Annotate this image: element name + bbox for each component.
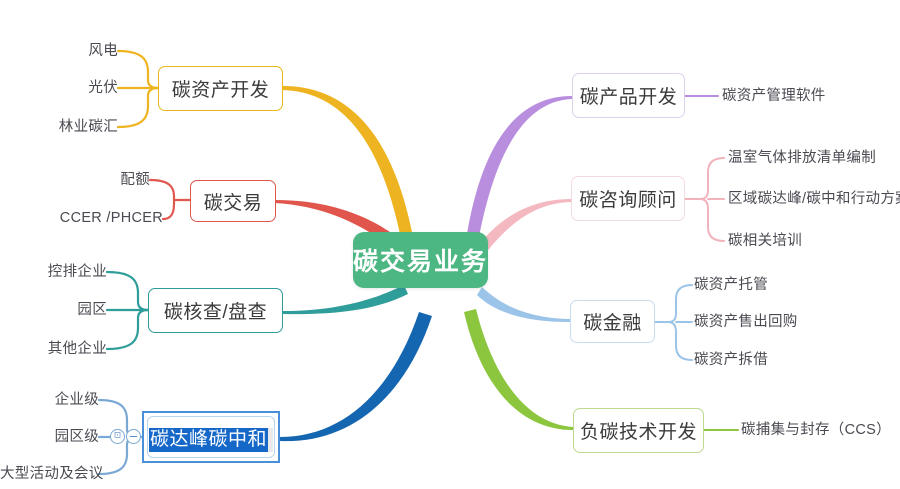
leaf-label[interactable]: 园区级 bbox=[0, 430, 99, 445]
leaf-label[interactable]: 碳资产售出回购 bbox=[694, 315, 798, 330]
branch-curve-carbon-finance bbox=[477, 287, 570, 322]
minus-circle-icon[interactable] bbox=[126, 429, 141, 444]
leaf-label[interactable]: 温室气体排放清单编制 bbox=[728, 151, 876, 166]
branch-curve-carbon-verification bbox=[283, 285, 408, 314]
leaf-label[interactable]: 光伏 bbox=[18, 81, 118, 96]
branch-curve-carbon-peak-neutral bbox=[280, 312, 432, 441]
leaf-label[interactable]: 碳捕集与封存（CCS） bbox=[741, 423, 891, 438]
leaf-label[interactable]: 碳资产拆借 bbox=[694, 353, 768, 368]
branch-node-carbon-consulting[interactable]: 碳咨询顾问 bbox=[571, 176, 685, 221]
subbranch-carbon-finance bbox=[655, 285, 692, 360]
leaf-label[interactable]: 区域碳达峰/碳中和行动方案 bbox=[728, 192, 900, 207]
branch-node-carbon-peak-neutral-editing[interactable]: 碳达峰碳中和 bbox=[142, 411, 280, 463]
branch-node-carbon-finance[interactable]: 碳金融 bbox=[570, 300, 655, 343]
branch-node-carbon-trading[interactable]: 碳交易 bbox=[190, 180, 276, 222]
leaf-label[interactable]: CCER /PHCER bbox=[40, 211, 163, 226]
branch-curve-negative-carbon-tech bbox=[464, 309, 573, 430]
branch-node-negative-carbon-tech[interactable]: 负碳技术开发 bbox=[573, 408, 704, 453]
leaf-label[interactable]: 林业碳汇 bbox=[18, 120, 118, 135]
leaf-label[interactable]: 配额 bbox=[40, 173, 150, 188]
subbranch-carbon-asset-development bbox=[118, 51, 158, 127]
collapse-toggle-icon[interactable]: ⊡ bbox=[110, 429, 125, 444]
mindmap-canvas: 碳交易业务 碳资产开发 碳交易 碳核查/盘查 碳产品开发 碳咨询顾问 碳金融 负… bbox=[0, 0, 900, 489]
branch-node-carbon-verification[interactable]: 碳核查/盘查 bbox=[148, 288, 283, 333]
subbranch-carbon-verification bbox=[107, 272, 148, 349]
branch-node-carbon-asset-development[interactable]: 碳资产开发 bbox=[158, 66, 283, 111]
subbranch-carbon-consulting bbox=[685, 158, 724, 241]
branch-curve-carbon-consulting bbox=[477, 199, 571, 255]
node-text-field[interactable]: 碳达峰碳中和 bbox=[149, 428, 273, 452]
branch-node-carbon-product-development[interactable]: 碳产品开发 bbox=[572, 73, 685, 118]
leaf-label[interactable]: 企业级 bbox=[0, 393, 99, 408]
leaf-label[interactable]: 大型活动及会议 bbox=[0, 467, 99, 482]
leaf-label[interactable]: 碳相关培训 bbox=[728, 234, 802, 249]
leaf-label[interactable]: 园区 bbox=[7, 303, 107, 318]
leaf-label[interactable]: 其他企业 bbox=[7, 342, 107, 357]
center-node[interactable]: 碳交易业务 bbox=[353, 232, 488, 288]
selected-text[interactable]: 碳达峰碳中和 bbox=[149, 428, 268, 452]
leaf-label[interactable]: 控排企业 bbox=[7, 265, 107, 280]
collapse-glyph: ⊡ bbox=[112, 430, 123, 440]
leaf-label[interactable]: 碳资产托管 bbox=[694, 278, 768, 293]
node-text-input[interactable]: 碳达峰碳中和 bbox=[147, 416, 275, 458]
leaf-label[interactable]: 碳资产管理软件 bbox=[722, 89, 826, 104]
leaf-label[interactable]: 风电 bbox=[18, 44, 118, 59]
